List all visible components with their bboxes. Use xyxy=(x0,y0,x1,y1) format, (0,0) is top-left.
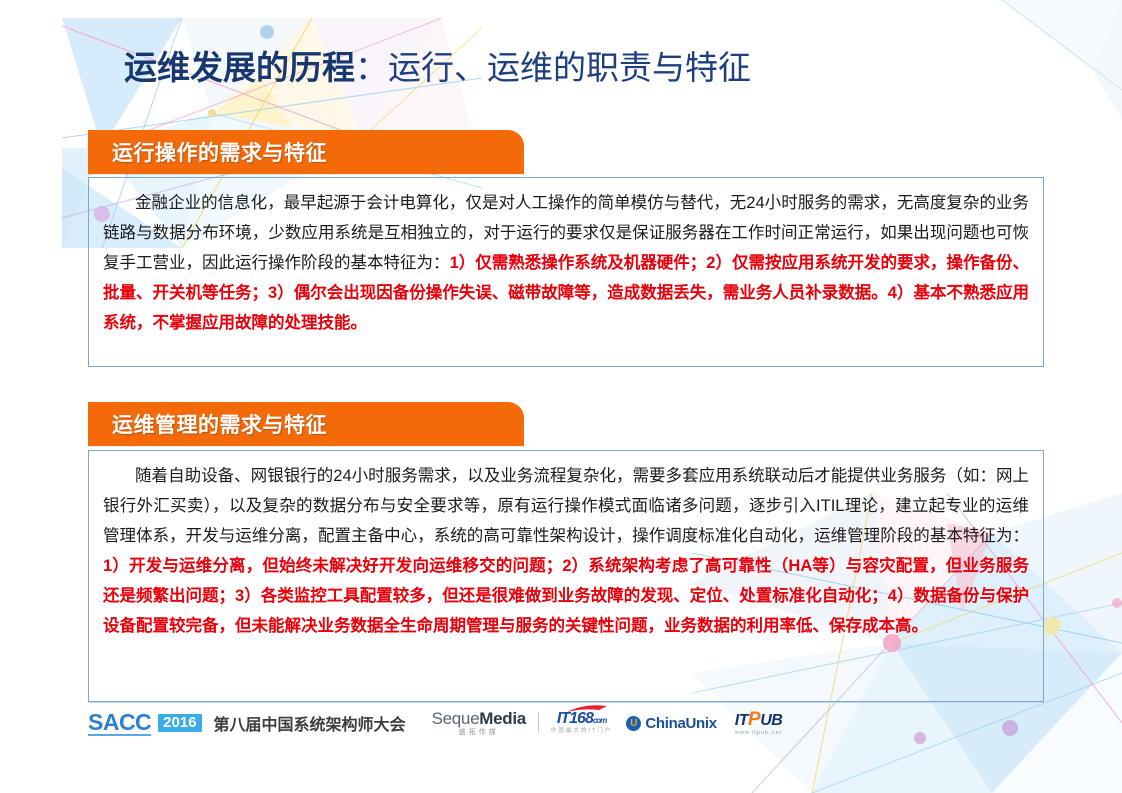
sequemedia-chinese-name: 盛拓传媒 xyxy=(459,729,499,736)
sacc-year-badge: 2016 xyxy=(158,714,201,732)
paragraph-normal-text: 随着自助设备、网银银行的24小时服务需求，以及业务流程复杂化，需要多套应用系统联… xyxy=(103,467,1029,545)
section-banner-maintenance: 运维管理的需求与特征 xyxy=(88,402,524,446)
section-paragraph: 随着自助设备、网银银行的24小时服务需求，以及业务流程复杂化，需要多套应用系统联… xyxy=(103,461,1029,641)
section-banner-operations: 运行操作的需求与特征 xyxy=(88,130,524,174)
page-title-rest: ：运行、运维的职责与特征 xyxy=(355,49,751,86)
chinaunix-badge-icon: U xyxy=(626,716,641,731)
it168-tagline: 中国最大的IT门户 xyxy=(551,729,612,735)
it168-suffix: com xyxy=(593,716,606,725)
sacc-wordmark: SACC xyxy=(88,711,151,736)
footer-logo-separator xyxy=(538,713,539,733)
section-paragraph: 金融企业的信息化，最早起源于会计电算化，仅是对人工操作的简单模仿与替代，无24小… xyxy=(103,188,1029,338)
section-body-box-maintenance: 随着自助设备、网银银行的24小时服务需求，以及业务流程复杂化，需要多套应用系统联… xyxy=(88,450,1044,702)
slide-canvas: 运维发展的历程：运行、运维的职责与特征 运行操作的需求与特征 金融企业的信息化，… xyxy=(0,0,1122,793)
footer-divider xyxy=(88,702,1044,703)
decorative-polygon-pattern-top-right xyxy=(862,0,1122,120)
sacc-logo: SACC 2016 第八届中国系统架构师大会 xyxy=(88,711,406,736)
sacc-conference-name: 第八届中国系统架构师大会 xyxy=(214,711,406,735)
chinaunix-wordmark: ChinaUnix xyxy=(645,715,716,732)
footer-logo-bar: SACC 2016 第八届中国系统架构师大会 SequeMedia 盛拓传媒 I… xyxy=(88,706,1044,740)
page-title: 运维发展的历程：运行、运维的职责与特征 xyxy=(124,46,751,90)
section-body-box-operations: 金融企业的信息化，最早起源于会计电算化，仅是对人工操作的简单模仿与替代，无24小… xyxy=(88,177,1044,367)
itpub-url: www.itpub.net xyxy=(735,731,782,737)
section-banner-label: 运维管理的需求与特征 xyxy=(112,409,327,439)
sequemedia-logo: SequeMedia 盛拓传媒 xyxy=(432,710,526,736)
itpub-wordmark: ITPUB xyxy=(735,710,783,729)
itpub-prefix: IT xyxy=(735,712,748,729)
page-title-emphasis: 运维发展的历程 xyxy=(124,49,355,86)
section-banner-label: 运行操作的需求与特征 xyxy=(112,137,327,167)
itpub-p-letter: P xyxy=(748,709,760,730)
it168-swoosh-icon xyxy=(567,705,607,713)
itpub-suffix: UB xyxy=(760,712,782,729)
paragraph-highlight-text: 1）开发与运维分离，但始终未解决好开发向运维移交的问题；2）系统架构考虑了高可靠… xyxy=(103,557,1029,635)
it168-logo: IT168com 中国最大的IT门户 xyxy=(551,711,612,735)
it168-wordmark: IT168com xyxy=(557,711,606,727)
sequemedia-part-two: Media xyxy=(479,709,526,728)
itpub-logo: ITPUB www.itpub.net xyxy=(735,710,783,737)
sequemedia-wordmark: SequeMedia xyxy=(432,710,526,727)
chinaunix-logo: U ChinaUnix xyxy=(626,715,716,732)
sequemedia-part-one: Seque xyxy=(432,709,480,728)
